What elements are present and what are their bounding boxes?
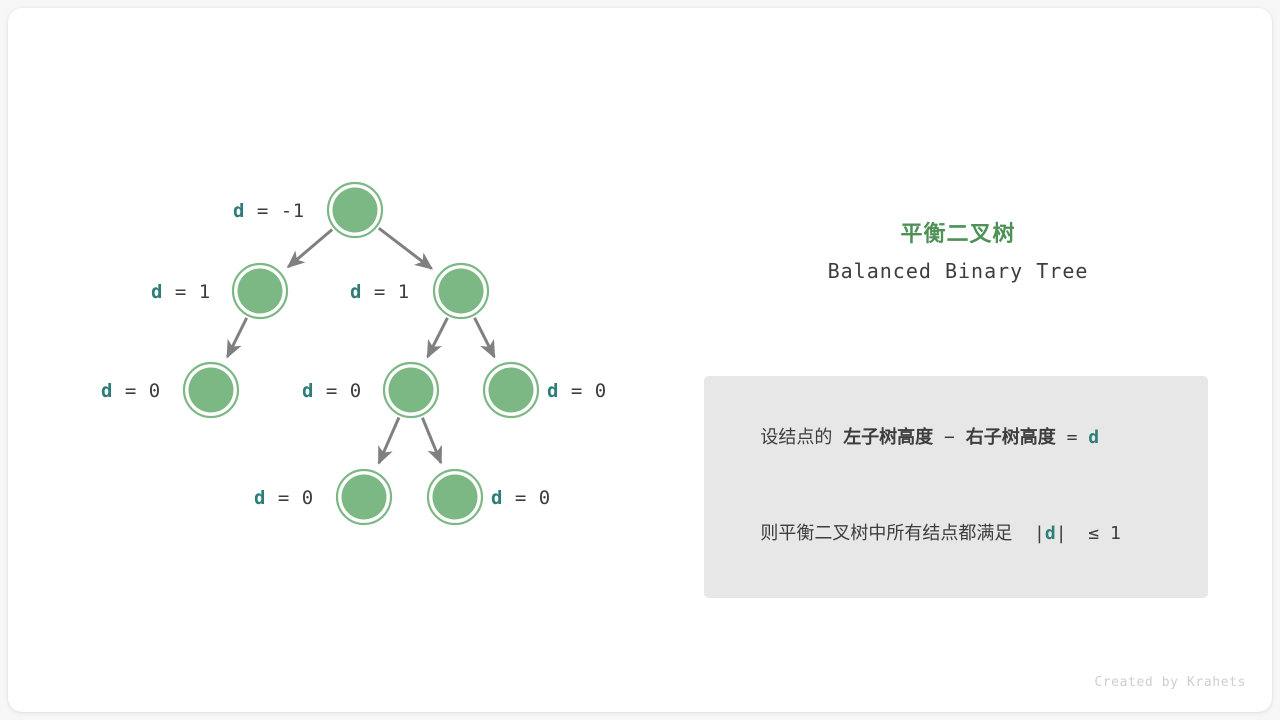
definition-line-2: 则平衡二叉树中所有结点都满足 |d| ≤ 1 xyxy=(726,486,1186,582)
panel-title: 平衡二叉树 xyxy=(688,218,1228,252)
node-label-value: 0 xyxy=(539,487,551,509)
tree-node xyxy=(484,363,538,417)
balance-factor-variable-2: d xyxy=(1045,523,1056,544)
node-label-operator: = xyxy=(503,487,539,509)
definition-line-1: 设结点的 左子树高度 − 右子树高度 = d xyxy=(726,390,1186,486)
panel: 平衡二叉树 Balanced Binary Tree xyxy=(688,218,1228,286)
tree-node xyxy=(337,470,391,524)
node-label-value: 1 xyxy=(199,281,211,303)
tree-edge xyxy=(428,318,448,357)
tree-edge xyxy=(475,318,495,357)
node-label-operator: = xyxy=(163,281,199,303)
binary-tree-graphic xyxy=(8,8,1272,712)
node-label-value: 0 xyxy=(595,380,607,402)
tree-node-core xyxy=(333,188,378,233)
node-label-variable: d xyxy=(302,380,314,402)
node-label-operator: = xyxy=(362,281,398,303)
tree-node-core xyxy=(189,368,234,413)
abs-bar-open: | xyxy=(1034,523,1045,544)
right-subtree-height-term: 右子树高度 xyxy=(966,427,1056,448)
node-label-variable: d xyxy=(233,200,245,222)
tree-node-core xyxy=(433,475,478,520)
minus-operator: − xyxy=(944,427,955,448)
tree-edge xyxy=(288,229,332,267)
credit-text: Created by Krahets xyxy=(1094,675,1246,690)
node-label-variable: d xyxy=(491,487,503,509)
node-label-operator: = xyxy=(559,380,595,402)
tree-node-core xyxy=(489,368,534,413)
definition-box: 设结点的 左子树高度 − 右子树高度 = d 则平衡二叉树中所有结点都满足 |d… xyxy=(704,376,1208,598)
node-balance-label: d = 0 xyxy=(101,380,161,402)
abs-bar-close: | xyxy=(1056,523,1067,544)
tree-edge xyxy=(422,418,441,463)
node-label-operator: = xyxy=(113,380,149,402)
tree-node xyxy=(328,183,382,237)
node-label-value: -1 xyxy=(281,200,305,222)
tree-node xyxy=(233,264,287,318)
tree-edge xyxy=(379,417,399,463)
node-label-variable: d xyxy=(101,380,113,402)
node-label-operator: = xyxy=(245,200,281,222)
node-label-variable: d xyxy=(151,281,163,303)
tree-node-core xyxy=(342,475,387,520)
node-label-variable: d xyxy=(350,281,362,303)
node-balance-label: d = 1 xyxy=(350,281,410,303)
equals-operator: = xyxy=(1067,427,1078,448)
tree-edge xyxy=(379,228,432,268)
tree-node-core xyxy=(389,368,434,413)
node-label-operator: = xyxy=(266,487,302,509)
tree-node-core xyxy=(439,269,484,314)
relation-operator: ≤ xyxy=(1088,523,1099,544)
definition-statement: 则平衡二叉树中所有结点都满足 xyxy=(760,523,1012,544)
node-label-value: 0 xyxy=(350,380,362,402)
bound-value: 1 xyxy=(1110,523,1121,544)
tree-node xyxy=(434,264,488,318)
balance-factor-variable: d xyxy=(1088,427,1099,448)
node-balance-label: d = 0 xyxy=(491,487,551,509)
node-label-value: 0 xyxy=(302,487,314,509)
tree-node-core xyxy=(238,269,283,314)
node-balance-label: d = -1 xyxy=(233,200,305,222)
tree-edges xyxy=(227,228,494,463)
definition-prefix: 设结点的 xyxy=(760,427,832,448)
tree-edge xyxy=(227,318,246,357)
node-label-operator: = xyxy=(314,380,350,402)
node-balance-label: d = 1 xyxy=(151,281,211,303)
node-label-value: 1 xyxy=(398,281,410,303)
tree-node xyxy=(384,363,438,417)
node-label-variable: d xyxy=(254,487,266,509)
tree-nodes xyxy=(184,183,538,524)
node-balance-label: d = 0 xyxy=(547,380,607,402)
node-balance-label: d = 0 xyxy=(302,380,362,402)
panel-subtitle: Balanced Binary Tree xyxy=(688,256,1228,286)
node-balance-label: d = 0 xyxy=(254,487,314,509)
left-subtree-height-term: 左子树高度 xyxy=(843,427,933,448)
tree-node xyxy=(184,363,238,417)
diagram-card: d = -1d = 1d = 1d = 0d = 0d = 0d = 0d = … xyxy=(8,8,1272,712)
node-label-variable: d xyxy=(547,380,559,402)
tree-node xyxy=(428,470,482,524)
node-label-value: 0 xyxy=(149,380,161,402)
